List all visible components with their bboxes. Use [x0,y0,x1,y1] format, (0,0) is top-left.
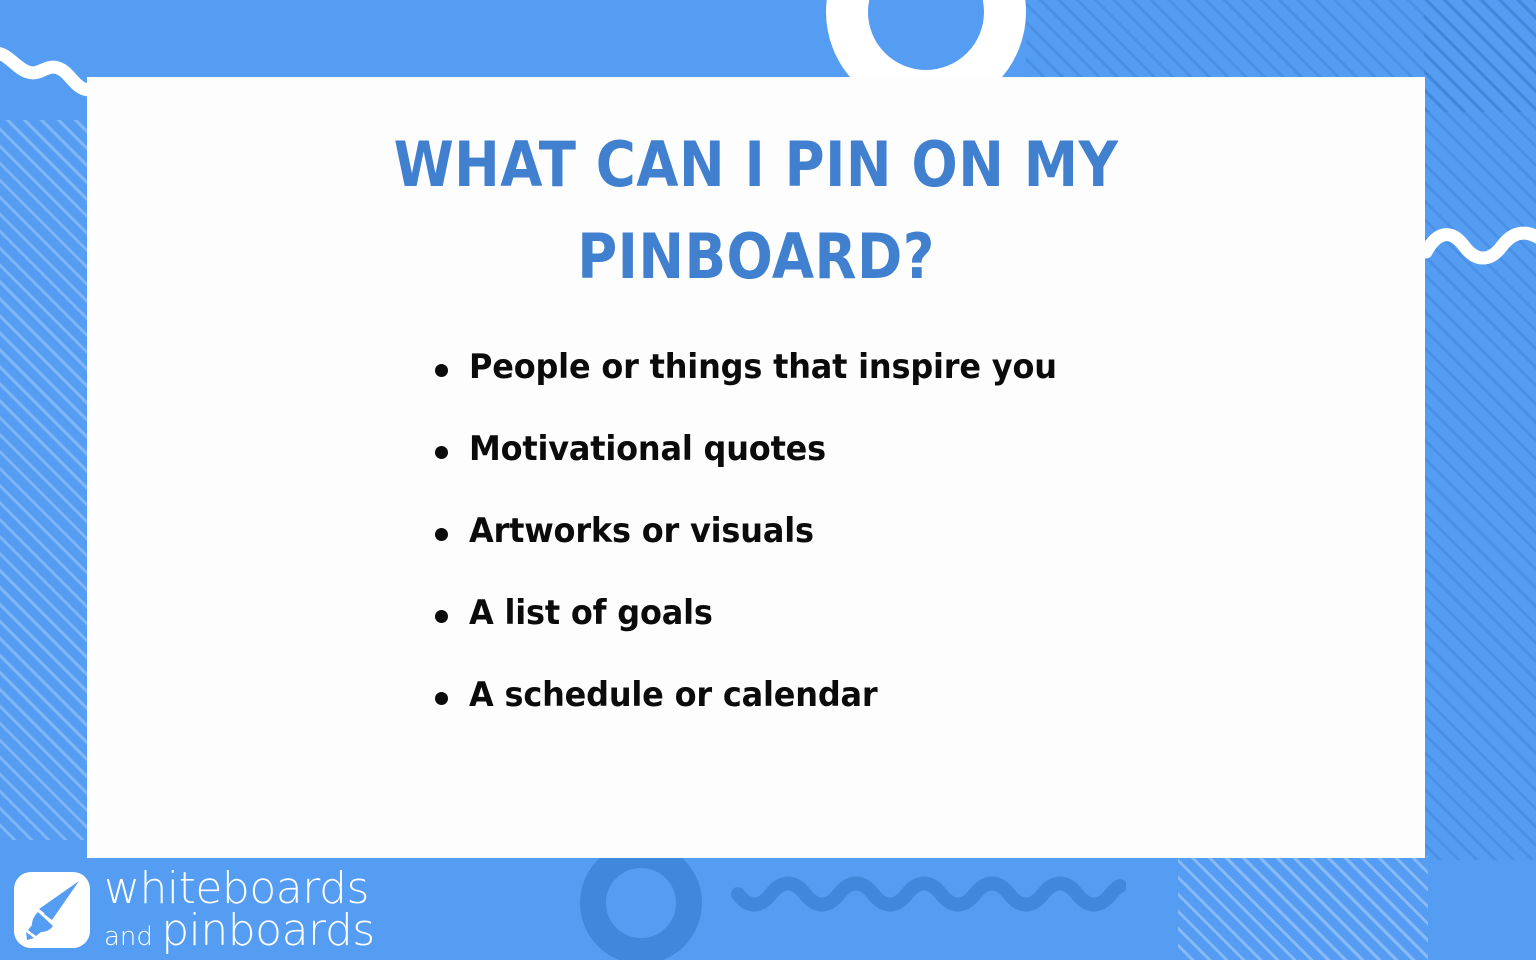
brand-word-pinboards: pinboards [161,905,375,956]
list-item: People or things that inspire you [87,347,1425,387]
slide-canvas: WHAT CAN I PIN ON MY PINBOARD? People or… [0,0,1536,960]
stripes-left-decoration [0,120,90,840]
bullet-dot-icon [435,610,448,623]
brand-word-and: and [104,922,161,952]
content-card: WHAT CAN I PIN ON MY PINBOARD? People or… [87,77,1425,858]
list-item-label: People or things that inspire you [469,347,1057,387]
bullet-dot-icon [435,692,448,705]
ring-bottom-center-decoration [580,842,702,960]
list-item-label: A schedule or calendar [469,675,877,715]
wave-right-decoration [1424,222,1536,266]
list-item-label: Artworks or visuals [469,511,814,551]
list-item: A schedule or calendar [87,675,1425,715]
brand-line-pinboards: and pinboards [104,910,375,952]
wave-bottom-center-decoration [730,874,1126,916]
brand-line-whiteboards: whiteboards [104,868,375,910]
stripes-bottom-right-decoration [1178,856,1428,960]
brand-wordmark: whiteboards and pinboards [104,868,375,952]
list-item-label: Motivational quotes [469,429,826,469]
whiteboard-marker-icon [14,872,90,948]
bullet-dot-icon [435,446,448,459]
page-title: WHAT CAN I PIN ON MY PINBOARD? [167,77,1344,303]
list-item: Motivational quotes [87,429,1425,469]
brand-logo[interactable]: whiteboards and pinboards [14,868,375,952]
wave-top-left-decoration [0,44,94,100]
bullet-dot-icon [435,528,448,541]
list-item-label: A list of goals [469,593,713,633]
stripes-right-decoration [1424,0,1536,860]
bullet-dot-icon [435,364,448,377]
list-item: A list of goals [87,593,1425,633]
list-item: Artworks or visuals [87,511,1425,551]
pin-ideas-list: People or things that inspire you Motiva… [87,303,1425,716]
